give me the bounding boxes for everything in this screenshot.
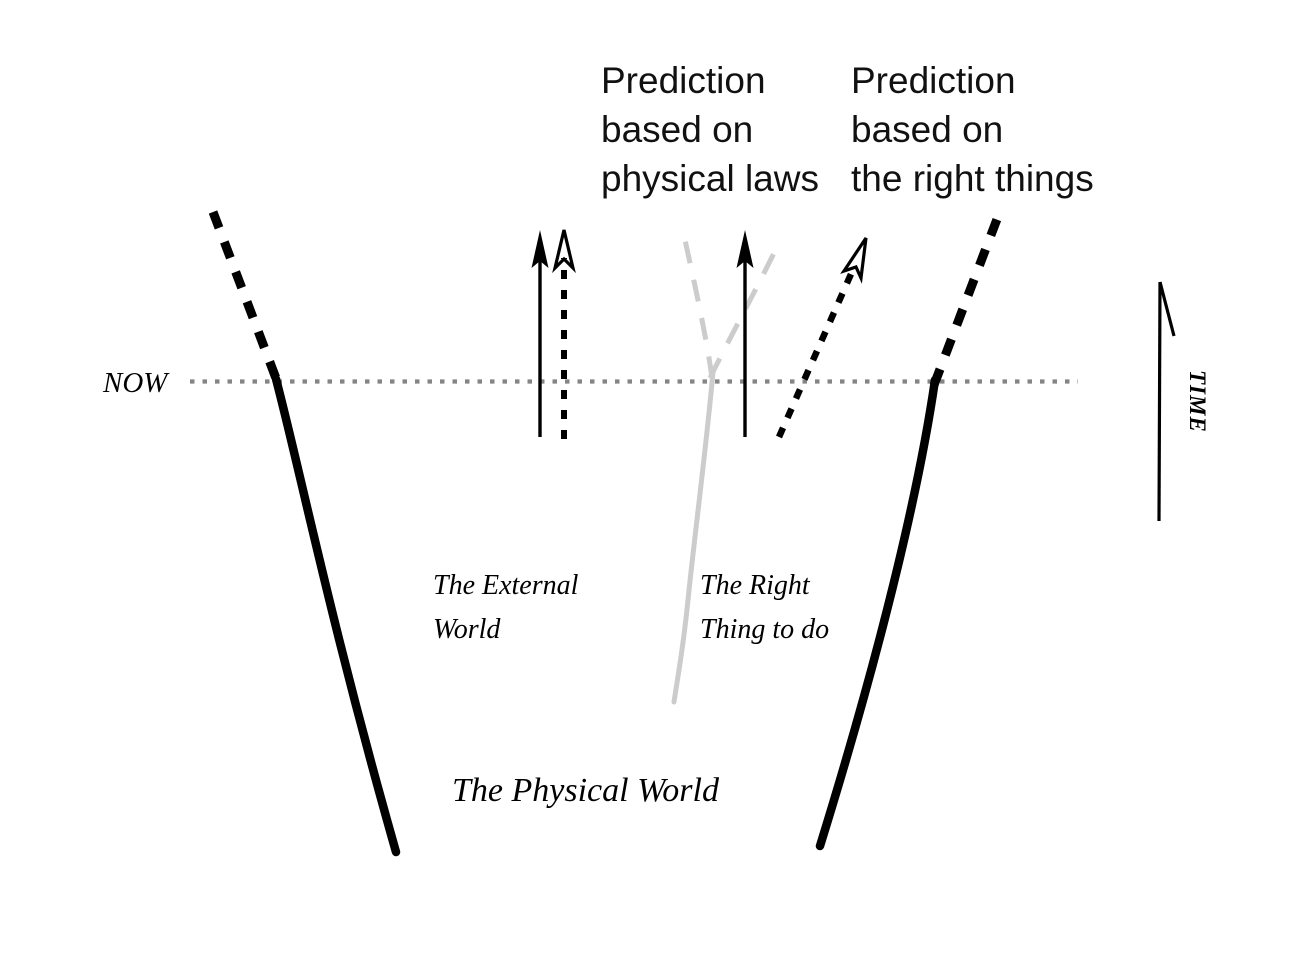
arrow-physical-laws-solid [532, 230, 549, 437]
arrow-physical-laws-dashed [555, 230, 573, 439]
heading-right-things-line2: based on [851, 109, 1003, 150]
external-world-label-line2: World [433, 614, 501, 645]
heading-right-things-line1: Prediction [851, 60, 1016, 101]
right-thing-label-line2: Thing to do [700, 614, 829, 645]
time-axis-arrow [1159, 282, 1174, 521]
right-thing-fork-left-branch [683, 231, 712, 378]
physical-world-left-boundary-future [213, 212, 277, 381]
right-thing-label-line1: The Right [700, 570, 811, 601]
heading-physical-laws-line2: based on [601, 109, 753, 150]
right-thing-fork-right-branch [710, 249, 776, 378]
right-thing-trajectory-past [674, 372, 713, 702]
external-world-label-line1: The External [433, 570, 579, 601]
time-axis-label: TIME [1185, 370, 1210, 433]
arrow-right-things-solid [737, 230, 754, 437]
prediction-diagram-svg: Prediction based on physical laws Predic… [0, 0, 1290, 960]
diagram-canvas: Prediction based on physical laws Predic… [0, 0, 1290, 960]
heading-right-things-line3: the right things [851, 158, 1094, 199]
heading-physical-laws-line3: physical laws [601, 158, 819, 199]
heading-physical-laws-line1: Prediction [601, 60, 766, 101]
arrow-right-things-dashed [779, 238, 866, 437]
physical-world-right-boundary-future [934, 206, 1002, 385]
now-label: NOW [102, 367, 170, 399]
physical-world-label: The Physical World [452, 772, 720, 809]
physical-world-right-boundary-past [820, 380, 935, 846]
physical-world-left-boundary-past [276, 379, 396, 852]
